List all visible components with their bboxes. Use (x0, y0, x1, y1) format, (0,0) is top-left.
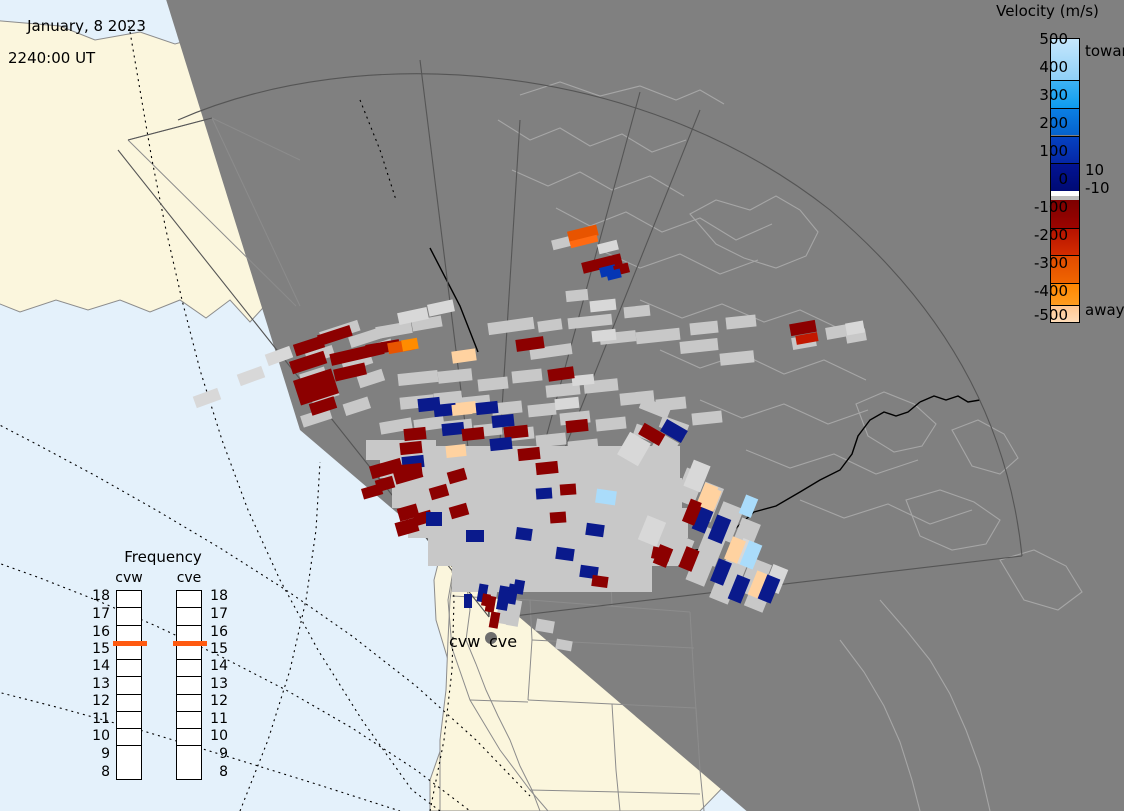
colorbar-gridline-2 (1051, 108, 1079, 109)
velocity-tick-400: 400 (1016, 60, 1068, 74)
timestamp-block: January, 8 2023 2240:00 UT (8, 2, 146, 98)
freq-label-cve-12: 12 (206, 695, 228, 708)
frequency-legend: Frequency cvw 18 17 16 15 14 13 12 11 10… (88, 548, 238, 788)
frequency-marker-cve (173, 641, 207, 646)
velocity-tick-n500: -500 (1016, 308, 1068, 322)
velocity-away-label: away (1085, 303, 1124, 317)
freq-label-cve-9: 9 (206, 748, 228, 761)
freq-label-cvw-14: 14 (88, 660, 110, 673)
freq-label-cve-13: 13 (206, 678, 228, 691)
colorbar-gridline-3 (1051, 136, 1079, 137)
freq-label-cve-15: 15 (206, 643, 228, 656)
freq-label-cve-18: 18 (206, 590, 228, 603)
freq-label-cve-16: 16 (206, 626, 228, 639)
frequency-gauge-name-cvw: cvw (106, 570, 152, 586)
velocity-tick-n100: -100 (1016, 200, 1068, 214)
colorbar-gridline-1 (1051, 80, 1079, 81)
velocity-pos-threshold-label: 10 (1085, 163, 1104, 177)
velocity-tick-300: 300 (1016, 88, 1068, 102)
frequency-legend-title: Frequency (88, 548, 238, 566)
freq-label-cve-8: 8 (206, 766, 228, 779)
frequency-marker-cvw (113, 641, 147, 646)
radar-label-cvw: cvw (449, 632, 480, 651)
freq-label-cvw-18: 18 (88, 590, 110, 603)
freq-label-cvw-12: 12 (88, 695, 110, 708)
freq-label-cvw-13: 13 (88, 678, 110, 691)
map-date: January, 8 2023 (27, 17, 146, 35)
freq-label-cvw-15: 15 (88, 643, 110, 656)
velocity-toward-label: toward (1085, 44, 1124, 58)
freq-label-cvw-11: 11 (88, 713, 110, 726)
frequency-gauge-cvw (116, 590, 142, 780)
velocity-tick-100: 100 (1016, 144, 1068, 158)
radar-map-screenshot: cvw cve January, 8 2023 2240:00 UT Veloc… (0, 0, 1124, 811)
velocity-tick-500: 500 (1016, 32, 1068, 46)
velocity-tick-n300: -300 (1016, 256, 1068, 270)
velocity-neg-threshold-label: -10 (1085, 181, 1110, 195)
velocity-tick-0: 0 (1016, 172, 1068, 186)
freq-label-cve-11: 11 (206, 713, 228, 726)
colorbar-gridline-4 (1051, 163, 1079, 164)
radar-label-cve: cve (489, 632, 517, 651)
velocity-tick-200: 200 (1016, 116, 1068, 130)
velocity-colorbar: Velocity (m/s) 500 400 300 200 100 (975, 0, 1124, 340)
freq-label-cve-17: 17 (206, 608, 228, 621)
freq-label-cvw-10: 10 (88, 730, 110, 743)
freq-label-cvw-9: 9 (88, 748, 110, 761)
freq-label-cvw-8: 8 (88, 766, 110, 779)
freq-label-cvw-17: 17 (88, 608, 110, 621)
freq-label-cvw-16: 16 (88, 626, 110, 639)
frequency-gauge-cve (176, 590, 202, 780)
map-time: 2240:00 UT (8, 50, 146, 66)
freq-label-cve-14: 14 (206, 660, 228, 673)
velocity-colorbar-title: Velocity (m/s) (975, 2, 1120, 20)
velocity-tick-n200: -200 (1016, 228, 1068, 242)
velocity-tick-n400: -400 (1016, 284, 1068, 298)
frequency-gauge-name-cve: cve (166, 570, 212, 586)
freq-label-cve-10: 10 (206, 730, 228, 743)
